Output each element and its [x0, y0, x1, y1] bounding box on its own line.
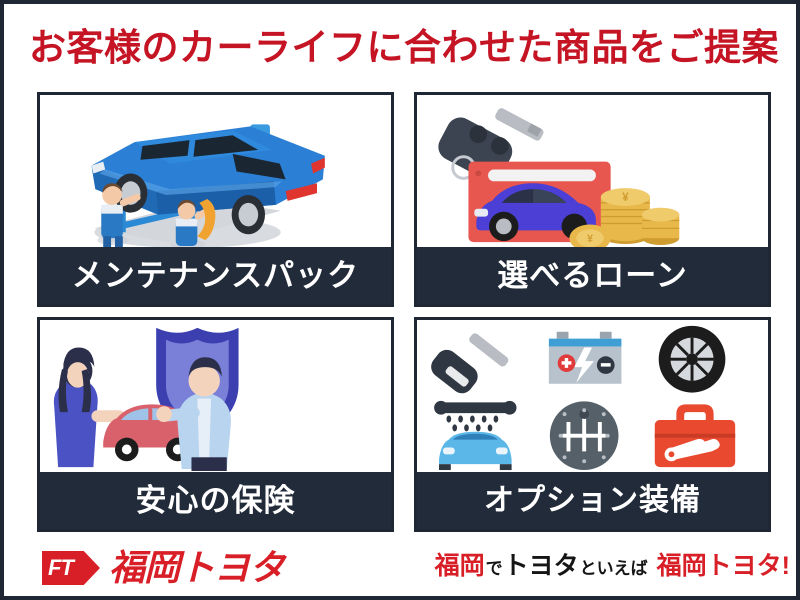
- footer: FT 福岡トヨタ 福岡 で トヨタ といえば 福岡トヨタ!: [8, 538, 800, 600]
- card-loan-select[interactable]: ¥ ¥: [414, 92, 771, 307]
- svg-text:¥: ¥: [622, 191, 629, 204]
- card-insurance-label: 安心の保険: [40, 472, 391, 529]
- card-maintenance-pack[interactable]: メンテナンスパック: [37, 92, 394, 307]
- card-maintenance-pack-art: [40, 95, 391, 247]
- product-card-grid: メンテナンスパック: [37, 92, 771, 532]
- car-key-card-and-coins-illustration: ¥ ¥: [417, 95, 768, 247]
- shield-with-people-and-car-illustration: [40, 320, 391, 472]
- svg-text:¥: ¥: [587, 233, 593, 245]
- fukuoka-toyota-logo[interactable]: FT 福岡トヨタ: [42, 546, 284, 590]
- tagline-part-4: といえば: [580, 560, 648, 577]
- tagline-part-2: で: [486, 560, 503, 577]
- car-battery-icon: [549, 332, 622, 384]
- card-loan-select-label: 選べるローン: [417, 247, 768, 304]
- logo-wordmark: 福岡トヨタ: [109, 550, 284, 586]
- card-insurance[interactable]: 安心の保険: [37, 317, 394, 532]
- footer-tagline: 福岡 で トヨタ といえば 福岡トヨタ!: [435, 554, 790, 579]
- tagline-part-1: 福岡: [435, 554, 485, 579]
- tire-wheel-icon: [659, 326, 726, 393]
- card-optional-equipment-label: オプション装備: [417, 472, 768, 529]
- gear-shift-icon: [550, 401, 619, 470]
- card-optional-equipment-art: [417, 320, 768, 472]
- promo-banner-frame: お客様のカーライフに合わせた商品をご提案: [0, 0, 800, 600]
- page-title: お客様のカーライフに合わせた商品をご提案: [8, 26, 800, 70]
- ft-badge-icon: FT: [42, 551, 100, 585]
- card-loan-select-art: ¥ ¥: [417, 95, 768, 247]
- tagline-part-3: トヨタ: [504, 554, 579, 579]
- option-equipment-icon-grid: [417, 320, 768, 472]
- card-insurance-art: [40, 320, 391, 472]
- tagline-part-5: 福岡トヨタ!: [657, 554, 790, 579]
- car-on-lift-with-mechanics-illustration: [40, 95, 391, 247]
- card-maintenance-pack-label: メンテナンスパック: [40, 247, 391, 304]
- ft-badge-text: FT: [48, 557, 73, 579]
- card-optional-equipment[interactable]: オプション装備: [414, 317, 771, 532]
